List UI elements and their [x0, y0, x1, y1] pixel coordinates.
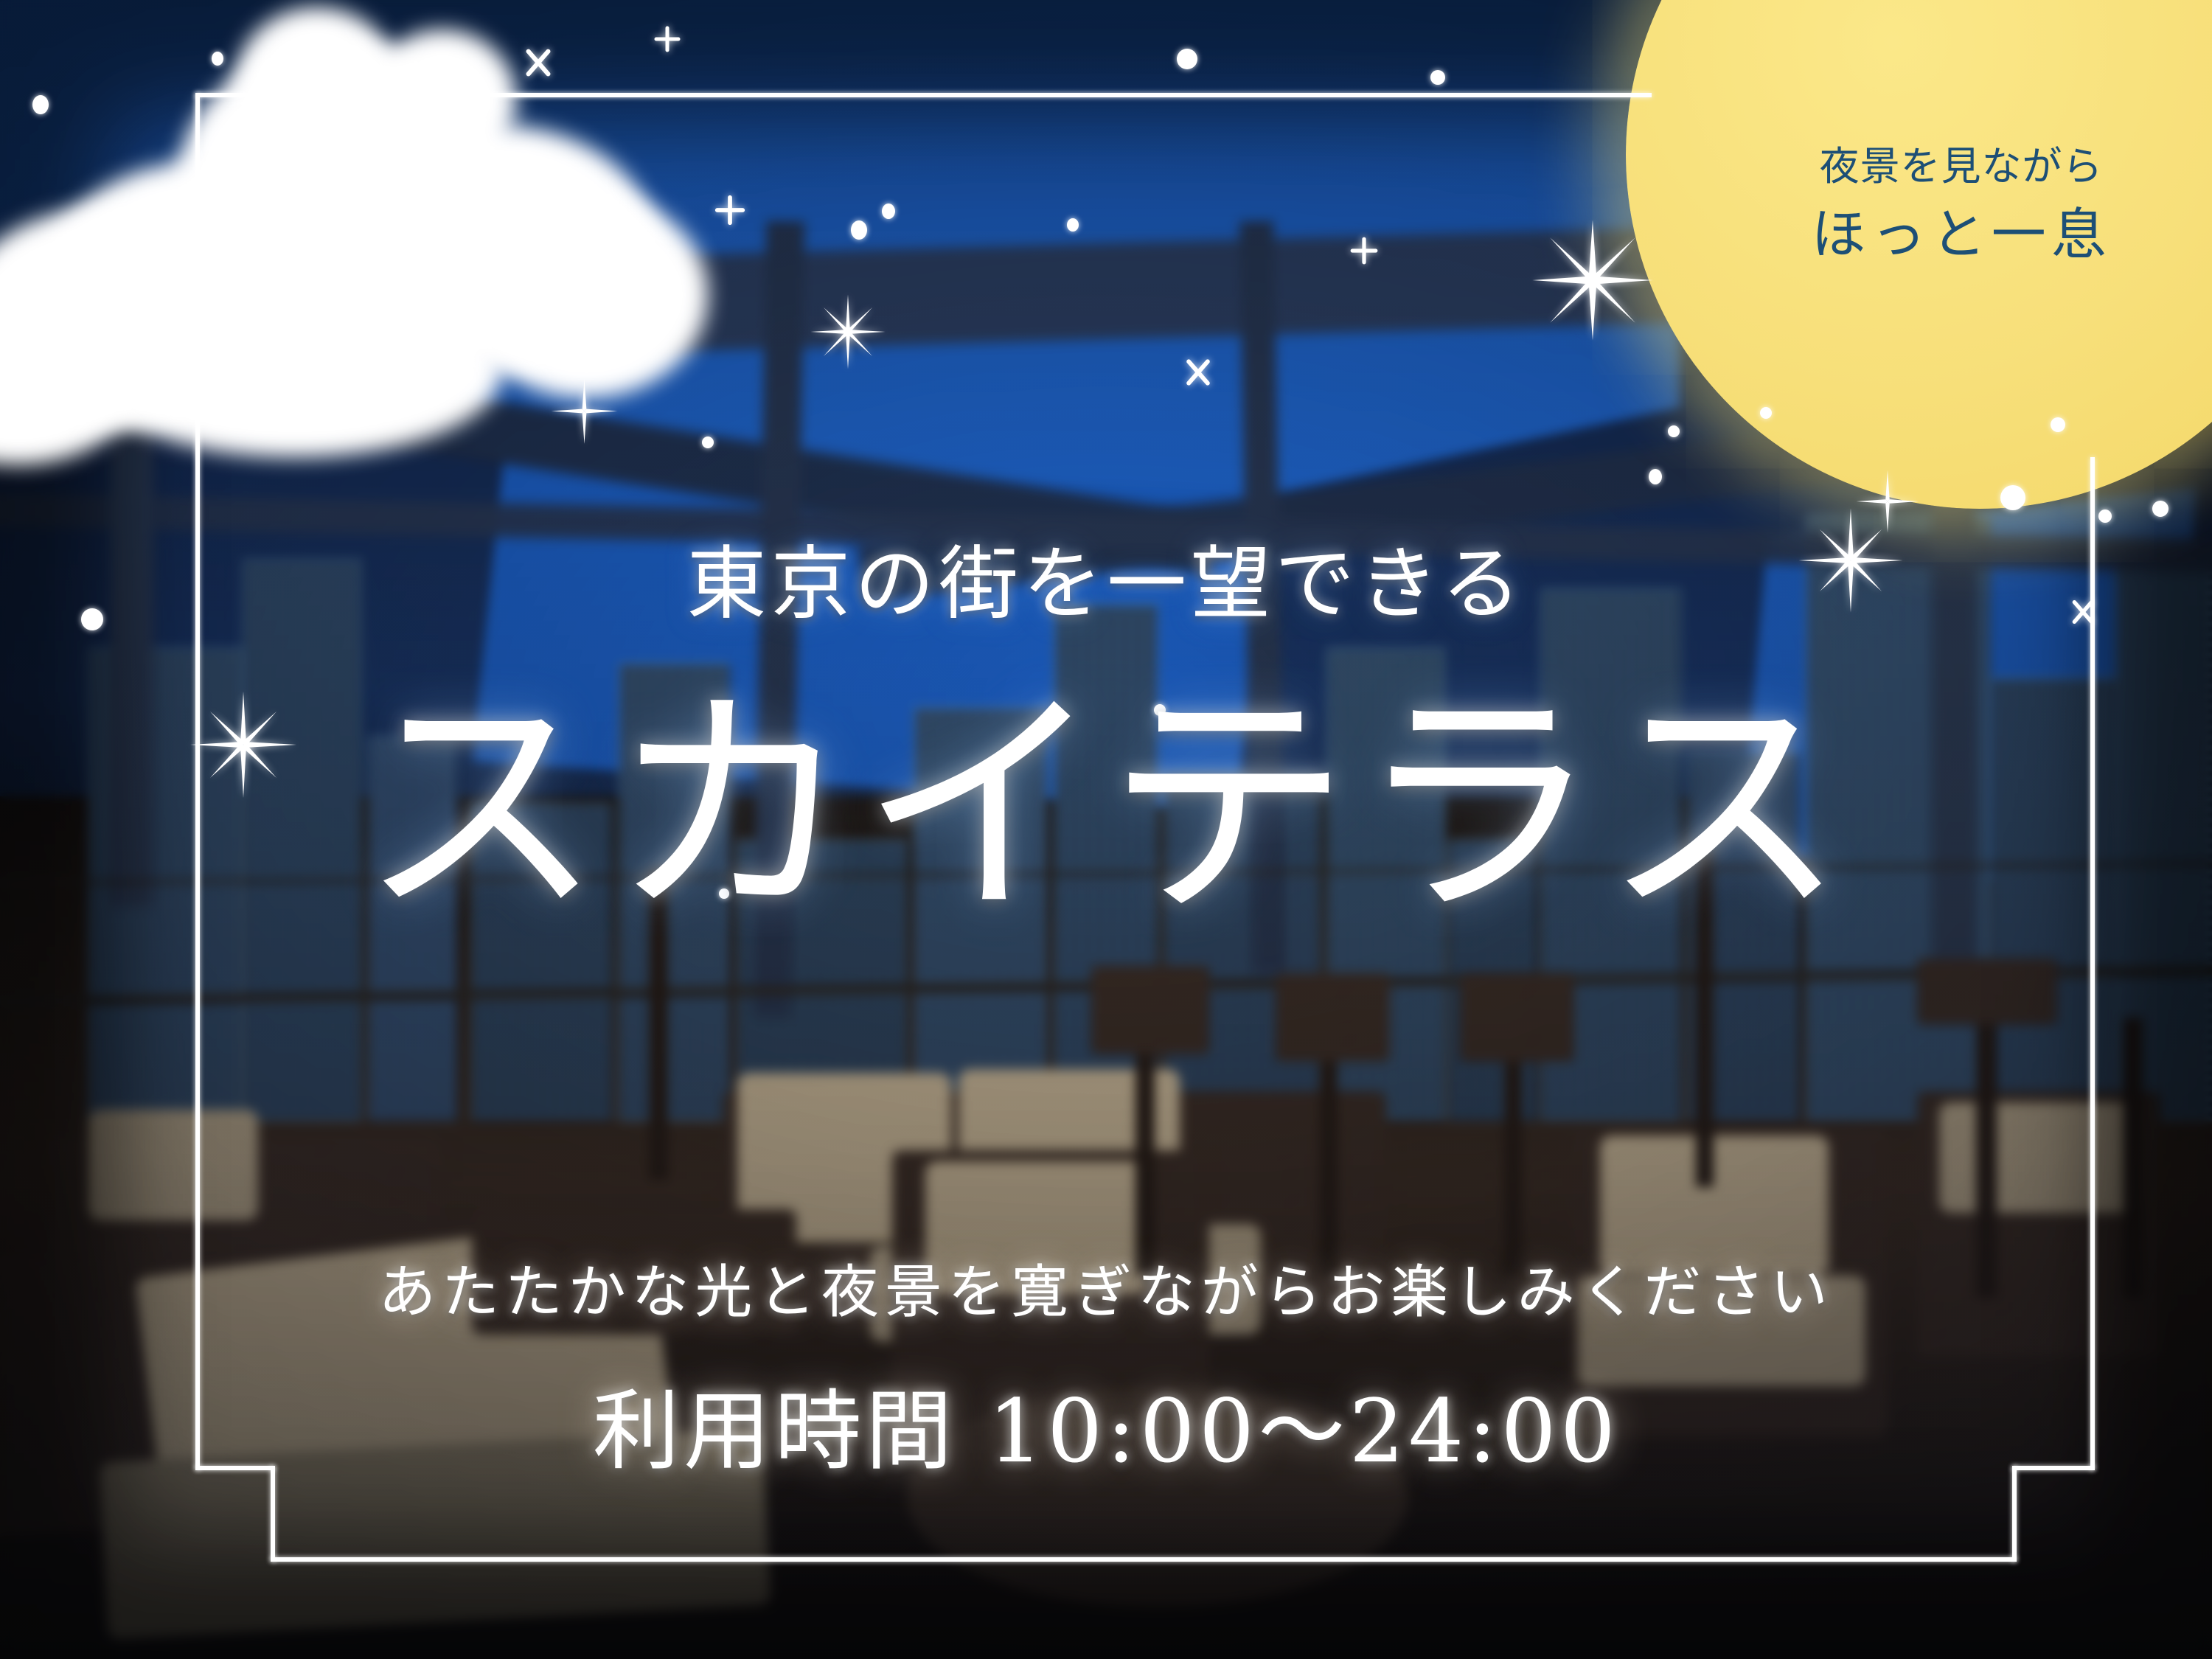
- star-dot: [2051, 417, 2065, 432]
- star-dot: [212, 52, 223, 66]
- moon-badge-line1: 夜景を見ながら: [1688, 140, 2212, 194]
- star-dot: [2152, 501, 2168, 517]
- star-dot: [1430, 70, 1445, 85]
- star-dot: [1668, 425, 1680, 437]
- poster-root: 夜景を見ながら ほっと一息: [0, 0, 2212, 1659]
- subtitle-line: 東京の街を一望できる: [0, 520, 2212, 635]
- opening-hours: 利用時間 10:00〜24:00: [0, 1360, 2212, 1486]
- star-dot: [1177, 49, 1197, 69]
- star-dot: [1760, 407, 1772, 419]
- tagline: あたたかな光と夜景を寛ぎながらお楽しみください: [0, 1246, 2212, 1329]
- star-dot: [1649, 469, 1662, 484]
- star-dot: [882, 204, 895, 219]
- star-dot: [2000, 485, 2025, 510]
- star-dot: [32, 95, 49, 114]
- star-dot: [1067, 218, 1079, 232]
- star-dot: [702, 437, 714, 448]
- star-dot: [851, 220, 867, 240]
- moon-badge-text: 夜景を見ながら ほっと一息: [1688, 140, 2212, 272]
- moon-badge-line2: ほっと一息: [1688, 198, 2212, 272]
- page-title: スカイテラス: [0, 686, 2212, 929]
